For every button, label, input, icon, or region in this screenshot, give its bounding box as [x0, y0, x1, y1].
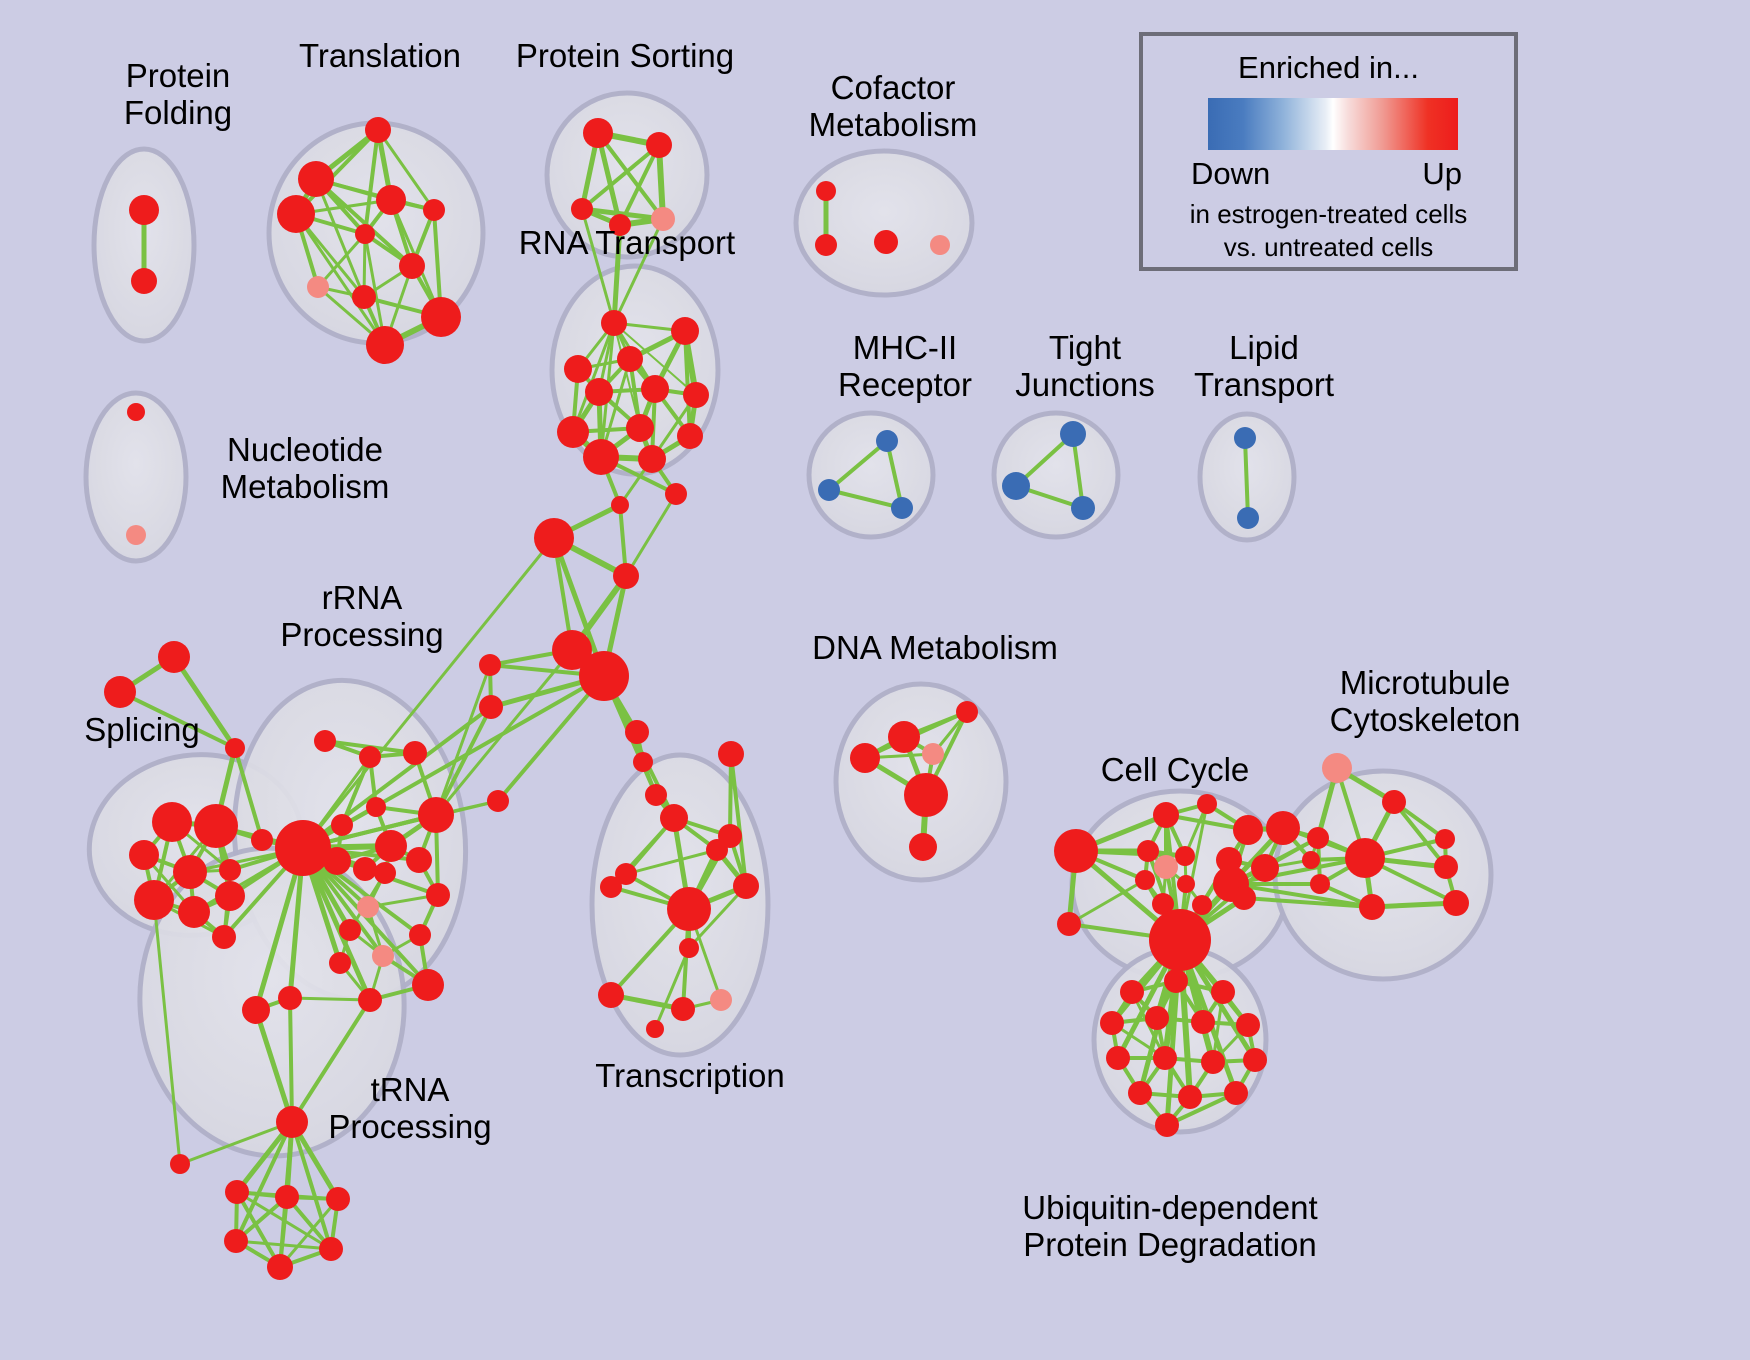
gene-set-node[interactable] — [329, 952, 351, 974]
gene-set-node[interactable] — [683, 382, 709, 408]
gene-set-node[interactable] — [671, 997, 695, 1021]
gene-set-node[interactable] — [671, 317, 699, 345]
cluster-label-rna-transport: RNA Transport — [497, 225, 757, 262]
gene-set-node[interactable] — [127, 403, 145, 421]
gene-set-node[interactable] — [212, 925, 236, 949]
edge — [290, 998, 292, 1122]
gene-set-node[interactable] — [1153, 802, 1179, 828]
gene-set-node[interactable] — [1191, 1010, 1215, 1034]
gene-set-node[interactable] — [1224, 1081, 1248, 1105]
gene-set-node[interactable] — [1266, 811, 1300, 845]
gene-set-node[interactable] — [1135, 870, 1155, 890]
gene-set-node[interactable] — [956, 701, 978, 723]
gene-set-node[interactable] — [1359, 894, 1385, 920]
gene-set-node[interactable] — [888, 721, 920, 753]
cluster-ellipse-cofactor-metabolism — [796, 151, 972, 295]
gene-set-node[interactable] — [891, 497, 913, 519]
gene-set-node[interactable] — [251, 829, 273, 851]
cluster-label-protein-folding: Protein Folding — [78, 58, 278, 132]
gene-set-node[interactable] — [375, 830, 407, 862]
cluster-label-cell-cycle: Cell Cycle — [1060, 752, 1290, 789]
gene-set-node[interactable] — [129, 195, 159, 225]
gene-set-node[interactable] — [275, 820, 331, 876]
gene-set-node[interactable] — [1106, 1046, 1130, 1070]
cluster-label-rrna-processing: rRNA Processing — [252, 580, 472, 654]
gene-set-node[interactable] — [818, 479, 840, 501]
gene-set-node[interactable] — [225, 1180, 249, 1204]
gene-set-node[interactable] — [479, 654, 501, 676]
gene-set-node[interactable] — [1100, 1011, 1124, 1035]
gene-set-node[interactable] — [275, 1185, 299, 1209]
gene-set-node[interactable] — [645, 784, 667, 806]
enrichment-map-figure: Protein FoldingTranslationProtein Sortin… — [0, 0, 1750, 1360]
gene-set-node[interactable] — [215, 881, 245, 911]
edge — [626, 494, 676, 576]
gene-set-node[interactable] — [1145, 1006, 1169, 1030]
gene-set-node[interactable] — [815, 234, 837, 256]
legend-caption-line-1: in estrogen-treated cells — [1143, 199, 1514, 230]
gene-set-node[interactable] — [374, 862, 396, 884]
gene-set-node[interactable] — [1192, 895, 1212, 915]
gene-set-node[interactable] — [816, 181, 836, 201]
gene-set-node[interactable] — [1234, 427, 1256, 449]
gene-set-node[interactable] — [534, 518, 574, 558]
gene-set-node[interactable] — [134, 880, 174, 920]
cluster-label-ubiquitin-protein-degradation: Ubiquitin-dependent Protein Degradation — [980, 1190, 1360, 1264]
gene-set-node[interactable] — [1120, 980, 1144, 1004]
gene-set-node[interactable] — [412, 969, 444, 1001]
gene-set-node[interactable] — [1164, 969, 1188, 993]
gene-set-node[interactable] — [1060, 421, 1086, 447]
gene-set-node[interactable] — [613, 563, 639, 589]
cluster-label-trna-processing: tRNA Processing — [300, 1072, 520, 1146]
cluster-label-protein-sorting: Protein Sorting — [495, 38, 755, 75]
gene-set-node[interactable] — [1237, 507, 1259, 529]
gene-set-node[interactable] — [1137, 840, 1159, 862]
gene-set-node[interactable] — [194, 804, 238, 848]
gene-set-node[interactable] — [331, 814, 353, 836]
gene-set-node[interactable] — [585, 378, 613, 406]
gene-set-node[interactable] — [904, 773, 948, 817]
gene-set-node[interactable] — [355, 224, 375, 244]
gene-set-node[interactable] — [660, 804, 688, 832]
gene-set-node[interactable] — [409, 924, 431, 946]
gene-set-node[interactable] — [173, 855, 207, 889]
gene-set-node[interactable] — [339, 919, 361, 941]
gene-set-node[interactable] — [358, 988, 382, 1012]
gene-set-node[interactable] — [421, 297, 461, 337]
gene-set-node[interactable] — [131, 268, 157, 294]
gene-set-node[interactable] — [1057, 912, 1081, 936]
gene-set-node[interactable] — [1322, 753, 1352, 783]
gene-set-node[interactable] — [1307, 827, 1329, 849]
gene-set-node[interactable] — [922, 743, 944, 765]
gene-set-node[interactable] — [1232, 886, 1256, 910]
gene-set-node[interactable] — [366, 326, 404, 364]
gene-set-node[interactable] — [376, 185, 406, 215]
gene-set-node[interactable] — [1054, 829, 1098, 873]
gene-set-node[interactable] — [406, 847, 432, 873]
edge — [290, 998, 370, 1000]
gene-set-node[interactable] — [1382, 790, 1406, 814]
gene-set-node[interactable] — [874, 230, 898, 254]
cluster-label-nucleotide-metabolism: Nucleotide Metabolism — [190, 432, 420, 506]
gene-set-node[interactable] — [633, 752, 653, 772]
gene-set-node[interactable] — [1071, 496, 1095, 520]
gene-set-node[interactable] — [352, 285, 376, 309]
gene-set-node[interactable] — [611, 496, 629, 514]
gene-set-node[interactable] — [1002, 472, 1030, 500]
gene-set-node[interactable] — [399, 253, 425, 279]
gene-set-node[interactable] — [426, 883, 450, 907]
gene-set-node[interactable] — [267, 1254, 293, 1280]
cluster-label-tight-junctions: Tight Junctions — [985, 330, 1185, 404]
gene-set-node[interactable] — [104, 676, 136, 708]
gene-set-node[interactable] — [1233, 815, 1263, 845]
gene-set-node[interactable] — [598, 982, 624, 1008]
gene-set-node[interactable] — [314, 730, 336, 752]
gene-set-node[interactable] — [366, 797, 386, 817]
gene-set-node[interactable] — [557, 416, 589, 448]
gene-set-node[interactable] — [487, 790, 509, 812]
gene-set-node[interactable] — [1302, 851, 1320, 869]
gene-set-node[interactable] — [601, 310, 627, 336]
gene-set-node[interactable] — [646, 1020, 664, 1038]
gene-set-node[interactable] — [242, 996, 270, 1024]
cluster-label-lipid-transport: Lipid Transport — [1164, 330, 1364, 404]
gene-set-node[interactable] — [278, 986, 302, 1010]
gene-set-node[interactable] — [638, 445, 666, 473]
legend-color-bar — [1208, 98, 1458, 150]
gene-set-node[interactable] — [129, 840, 159, 870]
gene-set-node[interactable] — [178, 896, 210, 928]
gene-set-node[interactable] — [1443, 890, 1469, 916]
gene-set-node[interactable] — [1153, 1046, 1177, 1070]
cluster-label-splicing: Splicing — [52, 712, 232, 749]
gene-set-node[interactable] — [170, 1154, 190, 1174]
gene-set-node[interactable] — [1236, 1013, 1260, 1037]
cluster-label-translation: Translation — [255, 38, 505, 75]
gene-set-node[interactable] — [579, 651, 629, 701]
gene-set-node[interactable] — [718, 741, 744, 767]
gene-set-node[interactable] — [626, 414, 654, 442]
gene-set-node[interactable] — [277, 195, 315, 233]
gene-set-node[interactable] — [679, 938, 699, 958]
gene-set-node[interactable] — [1154, 855, 1178, 879]
gene-set-node[interactable] — [617, 346, 643, 372]
gene-set-node[interactable] — [326, 1187, 350, 1211]
gene-set-node[interactable] — [667, 887, 711, 931]
cluster-label-dna-metabolism: DNA Metabolism — [800, 630, 1070, 667]
gene-set-node[interactable] — [353, 857, 377, 881]
gene-set-node[interactable] — [876, 430, 898, 452]
gene-set-node[interactable] — [583, 439, 619, 475]
legend-panel: Enriched in... Down Up in estrogen-treat… — [1139, 32, 1518, 271]
gene-set-node[interactable] — [583, 118, 613, 148]
gene-set-node[interactable] — [1211, 980, 1235, 1004]
gene-set-node[interactable] — [359, 746, 381, 768]
cluster-label-microtubule-cytoskeleton: Microtubule Cytoskeleton — [1295, 665, 1555, 739]
gene-set-node[interactable] — [600, 876, 622, 898]
gene-set-node[interactable] — [710, 989, 732, 1011]
gene-set-node[interactable] — [1175, 846, 1195, 866]
cluster-ellipse-mhc-ii-receptor — [809, 413, 933, 537]
gene-set-node[interactable] — [1434, 855, 1458, 879]
gene-set-node[interactable] — [564, 355, 592, 383]
legend-high-label: Up — [1422, 156, 1462, 192]
cluster-label-cofactor-metabolism: Cofactor Metabolism — [778, 70, 1008, 144]
gene-set-node[interactable] — [418, 797, 454, 833]
gene-set-node[interactable] — [733, 873, 759, 899]
gene-set-node[interactable] — [930, 235, 950, 255]
gene-set-node[interactable] — [298, 161, 334, 197]
gene-set-node[interactable] — [1345, 838, 1385, 878]
gene-set-node[interactable] — [1197, 794, 1217, 814]
gene-set-node[interactable] — [646, 132, 672, 158]
gene-set-node[interactable] — [126, 525, 146, 545]
gene-set-node[interactable] — [152, 802, 192, 842]
gene-set-node[interactable] — [224, 1229, 248, 1253]
gene-set-node[interactable] — [479, 695, 503, 719]
gene-set-node[interactable] — [625, 720, 649, 744]
gene-set-node[interactable] — [403, 741, 427, 765]
gene-set-node[interactable] — [1178, 1085, 1202, 1109]
legend-caption-line-2: vs. untreated cells — [1143, 232, 1514, 263]
gene-set-node[interactable] — [1310, 874, 1330, 894]
gene-set-node[interactable] — [372, 945, 394, 967]
gene-set-node[interactable] — [677, 423, 703, 449]
gene-set-node[interactable] — [1149, 909, 1211, 971]
gene-set-node[interactable] — [357, 896, 379, 918]
cluster-label-transcription: Transcription — [565, 1058, 815, 1095]
gene-set-node[interactable] — [307, 276, 329, 298]
gene-set-node[interactable] — [1177, 875, 1195, 893]
gene-set-node[interactable] — [571, 198, 593, 220]
cluster-label-mhc-ii-receptor: MHC-II Receptor — [800, 330, 1010, 404]
gene-set-node[interactable] — [1155, 1113, 1179, 1137]
gene-set-node[interactable] — [365, 117, 391, 143]
gene-set-node[interactable] — [423, 199, 445, 221]
gene-set-node[interactable] — [1243, 1048, 1267, 1072]
gene-set-node[interactable] — [1251, 854, 1279, 882]
gene-set-node[interactable] — [1435, 829, 1455, 849]
legend-low-label: Down — [1191, 156, 1270, 192]
gene-set-node[interactable] — [665, 483, 687, 505]
gene-set-node[interactable] — [1128, 1081, 1152, 1105]
gene-set-node[interactable] — [850, 743, 880, 773]
gene-set-node[interactable] — [1201, 1050, 1225, 1074]
gene-set-node[interactable] — [909, 833, 937, 861]
gene-set-node[interactable] — [158, 641, 190, 673]
gene-set-node[interactable] — [319, 1237, 343, 1261]
gene-set-node[interactable] — [219, 859, 241, 881]
gene-set-node[interactable] — [718, 824, 742, 848]
legend-title: Enriched in... — [1143, 50, 1514, 86]
gene-set-node[interactable] — [641, 375, 669, 403]
